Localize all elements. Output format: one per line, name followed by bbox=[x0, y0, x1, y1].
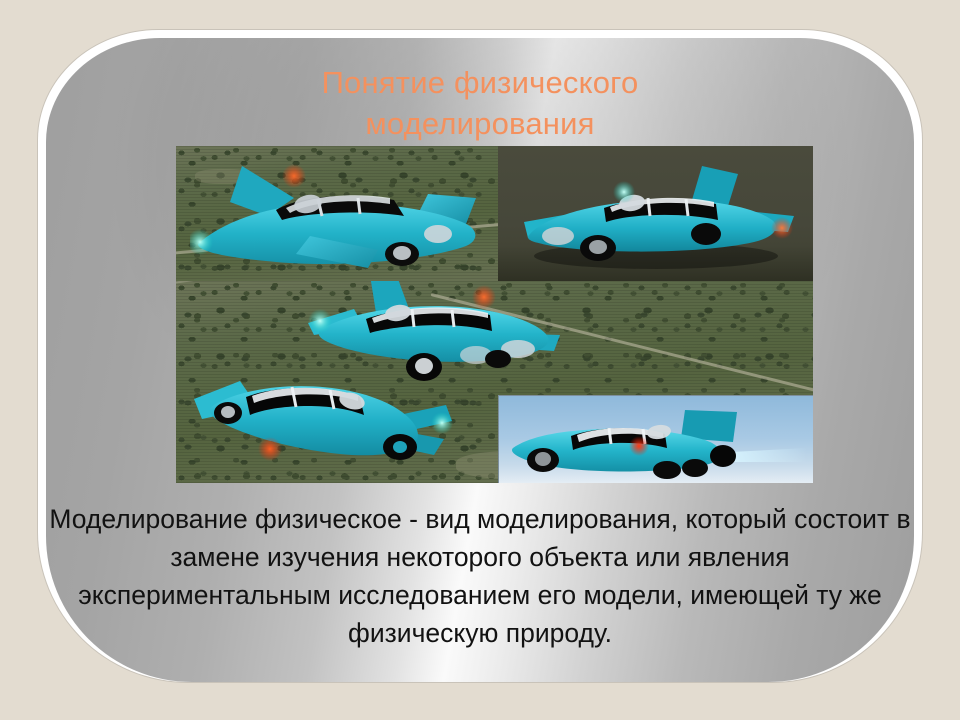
image-collage bbox=[176, 146, 813, 483]
flying-car-front-left bbox=[190, 158, 486, 280]
collage-tile-top-right bbox=[498, 146, 813, 281]
slide: Понятие физического моделирования bbox=[0, 0, 960, 720]
collage-tile-bottom-right bbox=[498, 395, 813, 483]
flying-car-illustration bbox=[509, 408, 809, 482]
page-title: Понятие физического моделирования bbox=[60, 62, 900, 144]
flying-car-illustration bbox=[184, 363, 486, 481]
flying-car-profile bbox=[509, 408, 809, 482]
collage-tile-top-left bbox=[176, 146, 498, 291]
body-paragraph: Моделирование физическое - вид моделиров… bbox=[42, 500, 918, 652]
flying-car-illustration bbox=[506, 160, 806, 272]
flying-car-illustration bbox=[190, 158, 486, 280]
flying-car-rear-view bbox=[184, 363, 486, 481]
flying-car-rear-three-quarter bbox=[506, 160, 806, 272]
